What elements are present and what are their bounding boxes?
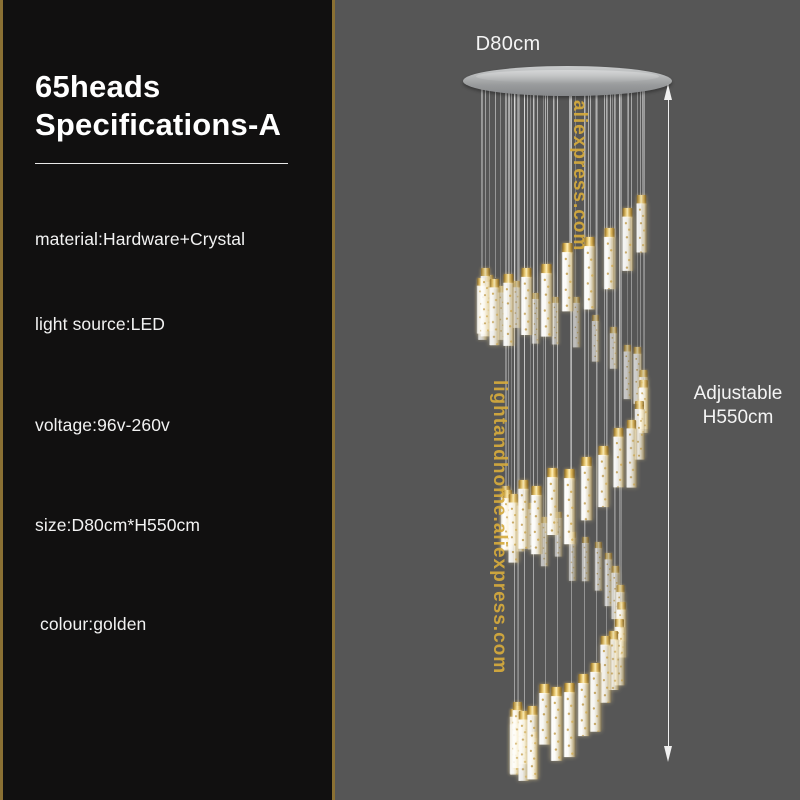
page-title: 65heads Specifications-A <box>35 68 325 144</box>
pendant-crystal-rod <box>540 273 552 337</box>
pendant-crystal-rod <box>577 683 589 737</box>
pendant-crystal-rod <box>597 455 609 507</box>
pendant-cable <box>619 88 620 427</box>
pendant-crystal-rod <box>582 543 590 581</box>
arrow-head-down-icon <box>664 746 672 762</box>
pendant-crystal-rod <box>623 351 632 398</box>
pendant-cable <box>500 74 501 287</box>
height-label-line2: H550cm <box>678 406 798 430</box>
pendant-cable <box>518 84 519 702</box>
pendant-crystal-rod <box>564 692 577 757</box>
pendant-cable <box>482 79 483 279</box>
pendant-crystal-rod <box>538 693 550 745</box>
pendant-cable <box>545 88 546 684</box>
pendant-crystal-rod <box>583 246 595 309</box>
pendant-crystal-rod <box>520 277 532 335</box>
pendant-cable <box>575 69 576 296</box>
pendant-cable <box>495 88 496 279</box>
pendant-cable <box>537 90 538 486</box>
pendant-cable <box>533 87 534 706</box>
arrow-shaft <box>668 92 669 754</box>
pendant-crystal-rod <box>625 429 636 489</box>
product-stage: D80cm Adjustable H550cm aliexpress.com l… <box>338 0 800 800</box>
pendant-crystal-rod <box>550 696 563 761</box>
pendant-cable <box>610 92 611 228</box>
pendant-crystal-rod <box>613 436 625 487</box>
pendant-cable <box>621 81 622 602</box>
height-label: Adjustable H550cm <box>678 382 798 431</box>
spec-row-material: material:Hardware+Crystal <box>35 229 335 250</box>
pendant-crystal-rod <box>568 538 576 581</box>
spec-row-size: size:D80cm*H550cm <box>35 515 335 536</box>
pendant-cable <box>481 82 482 278</box>
pendant-cable <box>527 92 528 268</box>
pendant-crystal-rod <box>502 283 514 346</box>
spec-row-voltage: voltage:96v-260v <box>35 415 335 436</box>
pendant-crystal-rod <box>609 333 618 369</box>
height-dimension-arrow <box>661 84 677 762</box>
pendant-crystal-rod <box>636 204 647 253</box>
pendant-cable <box>489 76 490 275</box>
title-line-heads: 65heads <box>35 68 325 106</box>
pendant-crystal-rod <box>563 478 576 544</box>
pendant-crystal-rod <box>604 237 616 289</box>
product-spec-image: 65heads Specifications-A material:Hardwa… <box>0 0 800 800</box>
title-divider <box>35 163 288 164</box>
pendant-crystal-rod <box>518 489 530 549</box>
pendant-crystal-rod <box>581 466 593 521</box>
pendant-cable <box>547 93 548 264</box>
pendant-crystal-rod <box>531 495 543 554</box>
height-label-line1: Adjustable <box>678 382 798 406</box>
pendant-cable <box>642 88 643 196</box>
pendant-crystal-rod <box>594 548 602 590</box>
pendant-crystal-rod <box>546 477 558 535</box>
specification-panel: 65heads Specifications-A material:Hardwa… <box>0 0 335 800</box>
pendant-cable <box>557 88 558 687</box>
pendant-cable <box>615 77 616 566</box>
pendant-crystal-rod <box>592 321 600 361</box>
spec-row-light-source: light source:LED <box>35 314 335 335</box>
pendant-crystal-rod <box>527 715 539 779</box>
pendant-cable <box>569 93 570 243</box>
ceiling-canopy-disc <box>463 66 672 96</box>
pendant-cable <box>590 93 591 237</box>
spec-row-colour: colour:golden <box>40 614 340 635</box>
pendant-crystal-rod <box>589 671 601 730</box>
pendant-cable <box>485 85 486 268</box>
pendant-cable <box>515 72 516 281</box>
pendant-crystal-rod <box>621 217 633 271</box>
title-line-specifications: Specifications-A <box>35 106 325 144</box>
pendant-cable <box>553 90 554 467</box>
pendant-cable <box>584 88 585 674</box>
pendant-cable <box>554 69 555 297</box>
pendant-crystal-rod <box>489 287 501 345</box>
pendant-crystal-rod <box>562 253 575 312</box>
pendant-cable <box>628 90 629 208</box>
pendant-cable <box>509 90 510 274</box>
